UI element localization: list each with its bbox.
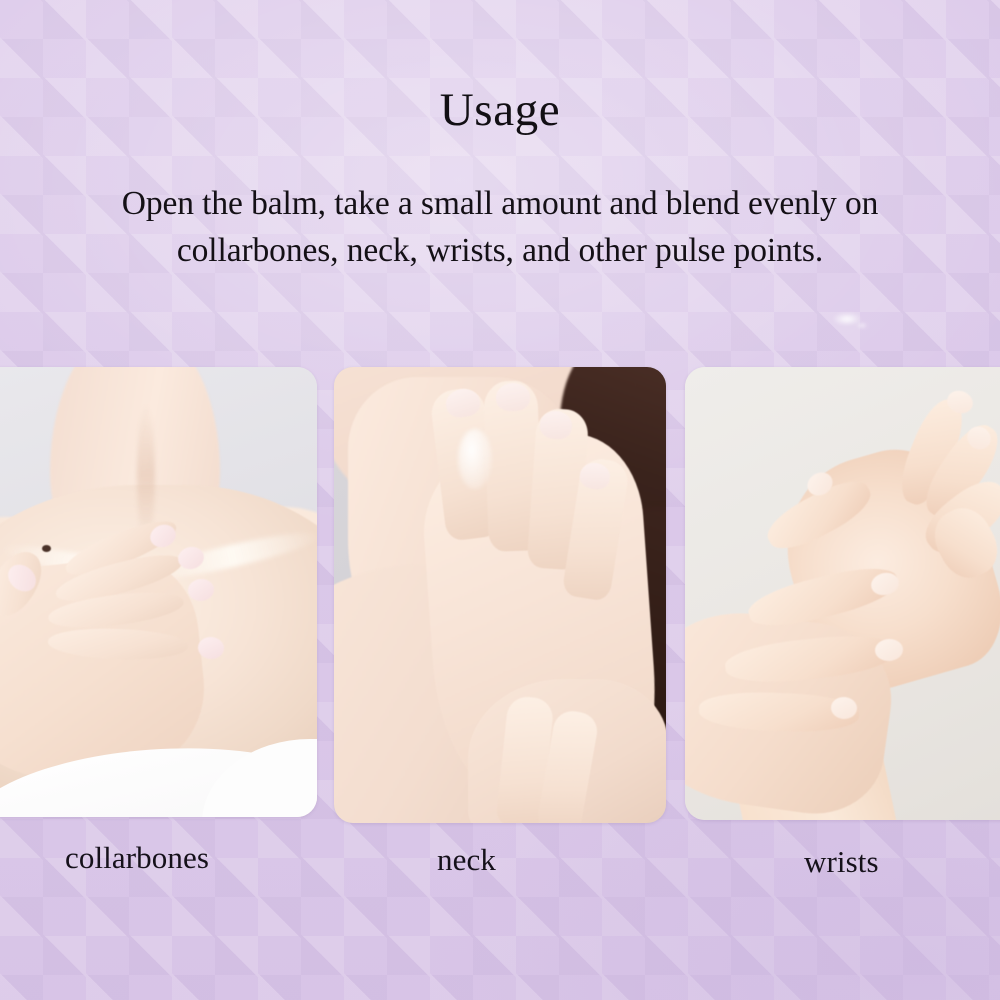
panel-label-collarbones: collarbones <box>65 840 209 876</box>
panel-label-wrists: wrists <box>804 844 879 880</box>
neck-photo <box>334 367 666 823</box>
header: Usage Open the balm, take a small amount… <box>0 0 1000 274</box>
wrists-photo <box>685 367 1000 820</box>
usage-description: Open the balm, take a small amount and b… <box>60 135 940 273</box>
fingernail-middle <box>496 382 531 411</box>
background-highlight-speck-small <box>856 322 868 329</box>
panel-image-collarbones <box>0 367 317 817</box>
panel-image-wrists <box>685 367 1000 820</box>
panel-label-neck: neck <box>437 842 496 878</box>
panel-image-neck <box>334 367 666 823</box>
beauty-mark <box>42 545 51 552</box>
collarbones-photo <box>0 367 317 817</box>
balm-smear <box>458 429 492 489</box>
usage-infographic: Usage Open the balm, take a small amount… <box>0 0 1000 1000</box>
page-title: Usage <box>0 0 1000 135</box>
